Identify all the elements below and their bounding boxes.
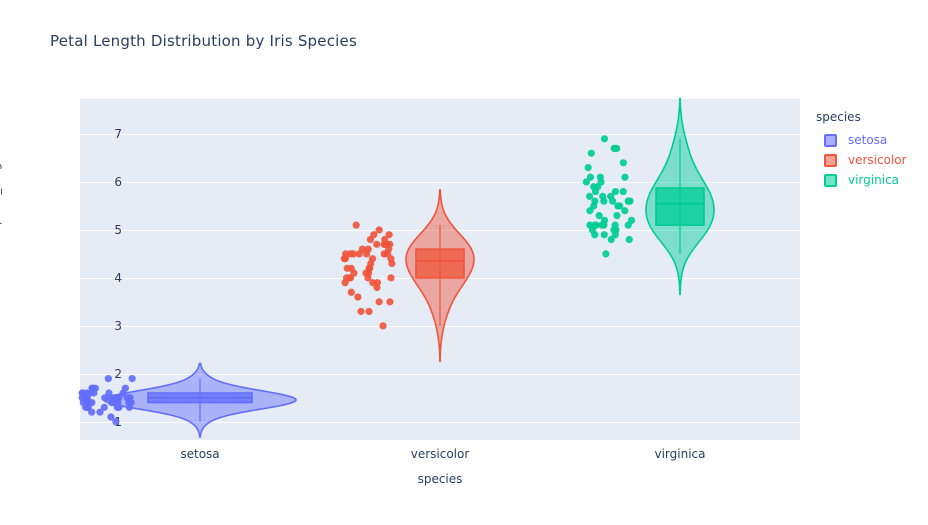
legend-item[interactable]: setosa xyxy=(824,130,928,150)
legend-swatch xyxy=(824,174,837,187)
legend-item[interactable]: versicolor xyxy=(824,150,928,170)
legend-label: versicolor xyxy=(848,153,907,167)
x-axis-title: species xyxy=(418,472,463,486)
legend-swatch xyxy=(824,134,837,147)
legend-label: setosa xyxy=(848,133,887,147)
legend-swatch xyxy=(824,154,837,167)
y-tick-label: 7 xyxy=(114,127,122,141)
x-tick-label: versicolor xyxy=(411,447,470,461)
legend: species setosaversicolorvirginica xyxy=(816,110,928,190)
legend-item[interactable]: virginica xyxy=(824,170,928,190)
x-tick-label: virginica xyxy=(655,447,706,461)
y-tick-label: 2 xyxy=(114,367,122,381)
y-tick-label: 3 xyxy=(114,319,122,333)
y-tick-label: 1 xyxy=(114,415,122,429)
y-axis-title: petal_length xyxy=(0,150,2,225)
legend-title: species xyxy=(816,110,928,124)
plotly-figure: Petal Length Distribution by Iris Specie… xyxy=(0,0,928,525)
y-tick-label: 6 xyxy=(114,175,122,189)
legend-items: setosaversicolorvirginica xyxy=(816,130,928,190)
legend-label: virginica xyxy=(848,173,899,187)
y-tick-label: 4 xyxy=(114,271,122,285)
y-tick-label: 5 xyxy=(114,223,122,237)
x-tick-label: setosa xyxy=(180,447,219,461)
